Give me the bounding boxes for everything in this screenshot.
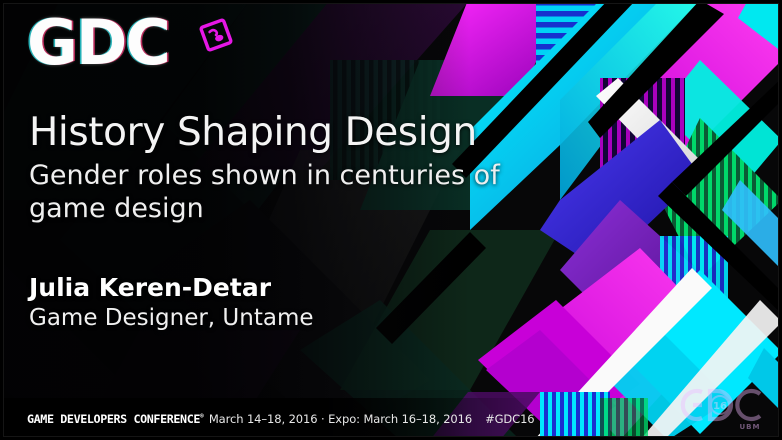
gdc-title-slide: GDC GDC GDC History Shaping Design Gende… [0,0,782,440]
gdc-wordmark: GDC GDC GDC [27,10,169,76]
speaker-role: Game Designer, Untame [29,304,489,333]
footer-brand: GAME DEVELOPERS CONFERENCE® [27,412,203,426]
footer-inner: GAME DEVELOPERS CONFERENCE® March 14–18,… [0,412,535,426]
gdc-logo: GDC GDC GDC [27,10,169,76]
footer-bar: GAME DEVELOPERS CONFERENCE® March 14–18,… [0,398,782,440]
speaker-name: Julia Keren-Detar [29,272,489,303]
footer-hashtag: #GDC16 [485,412,534,426]
page-title: History Shaping Design [29,110,549,156]
page-subtitle: Gender roles shown in centuries of game … [29,159,549,225]
gdc-wordmark-text: GDC [27,6,169,79]
gdc-badge-icon [199,18,233,52]
title-block: History Shaping Design Gender roles show… [29,110,549,225]
slide-content: GDC GDC GDC History Shaping Design Gende… [0,0,782,440]
trademark-symbol: ® [200,413,203,420]
speaker-block: Julia Keren-Detar Game Designer, Untame [29,272,489,333]
footer-brand-text: GAME DEVELOPERS CONFERENCE [27,412,200,426]
footer-dates: March 14–18, 2016 · Expo: March 16–18, 2… [209,412,472,426]
